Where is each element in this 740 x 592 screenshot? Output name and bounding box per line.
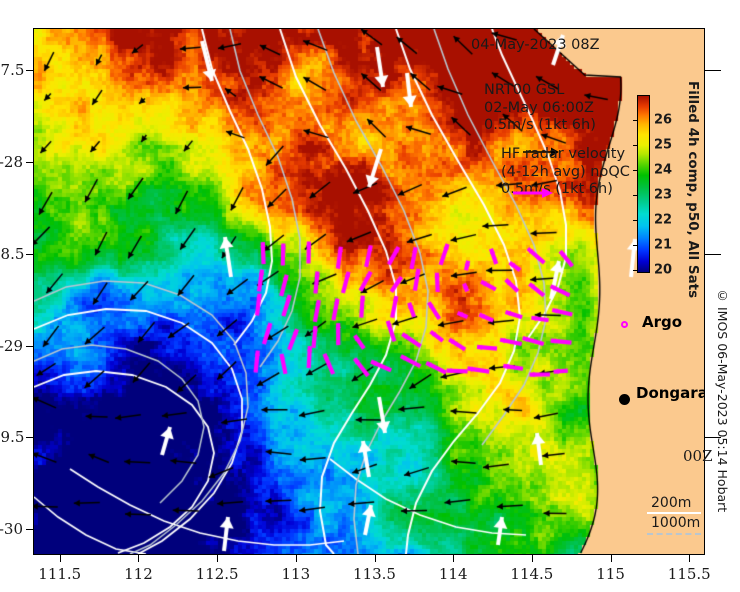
x-axis-tick-label: 113.5 <box>353 565 396 583</box>
colorbar-tick <box>633 195 637 196</box>
y-axis-tick-label: 28.5 <box>0 245 23 263</box>
y-axis-tick <box>26 529 33 530</box>
sst-map-figure: 04-May-2023 08Z NRT00 GSL 02-May 06:00Z … <box>0 0 740 592</box>
colorbar-tick-label: 23 <box>654 188 672 203</box>
colorbar-tick-label: 24 <box>654 163 672 178</box>
colorbar-tick <box>633 170 637 171</box>
colorbar-tick <box>633 220 637 221</box>
x-axis-tick-label: 112.5 <box>196 565 239 583</box>
argo-marker-icon <box>621 321 628 328</box>
right-edge-tick-label: 00Z <box>683 447 713 465</box>
depth-1000m-line <box>647 533 701 535</box>
x-axis-tick <box>217 555 218 562</box>
x-axis-tick-label: 115.5 <box>668 565 711 583</box>
right-axis-tick <box>705 70 721 71</box>
x-axis-tick <box>296 555 297 562</box>
colorbar-gradient <box>637 95 650 273</box>
y-axis-tick-label: -29 <box>0 337 23 355</box>
right-axis-tick <box>705 437 721 438</box>
colorbar-tick-label: 26 <box>654 113 672 128</box>
x-axis-tick-label: 111.5 <box>38 565 81 583</box>
x-axis-tick-label: 115 <box>596 565 625 583</box>
y-axis-tick <box>26 162 33 163</box>
velocity-vector-layer <box>34 29 704 554</box>
right-axis-tick <box>705 254 721 255</box>
map-plot-area[interactable]: 04-May-2023 08Z NRT00 GSL 02-May 06:00Z … <box>33 28 705 555</box>
y-axis-tick-label: 29.5 <box>0 428 23 446</box>
x-axis-tick <box>689 555 690 562</box>
colorbar-tick-label: 25 <box>654 138 672 153</box>
x-axis-tick <box>375 555 376 562</box>
colorbar-tick <box>633 270 637 271</box>
x-axis-tick-label: 114 <box>439 565 468 583</box>
x-axis-tick <box>532 555 533 562</box>
x-axis-tick <box>453 555 454 562</box>
depth-200m-line <box>647 512 701 514</box>
colorbar-tick-label: 21 <box>654 238 672 253</box>
colorbar-tick <box>633 145 637 146</box>
copyright-notice: © IMOS 06-May-2023 05:14 Hobart <box>715 288 730 512</box>
x-axis-tick-label: 113 <box>281 565 310 583</box>
y-axis-tick-label: -28 <box>0 153 23 171</box>
colorbar-title: Filled 4h comp, p50, All Sats <box>685 81 701 298</box>
x-axis-tick <box>611 555 612 562</box>
depth-1000m-label: 1000m <box>651 515 700 531</box>
colorbar-tick <box>633 245 637 246</box>
dongara-city-label: Dongara <box>636 384 705 402</box>
colorbar-tick <box>633 120 637 121</box>
y-axis-tick <box>26 437 33 438</box>
x-axis-tick <box>60 555 61 562</box>
x-axis-tick-label: 112 <box>124 565 153 583</box>
dongara-marker-icon <box>619 394 630 405</box>
colorbar-tick-label: 20 <box>654 263 672 278</box>
hfradar-reference-arrow <box>511 186 555 200</box>
y-axis-tick <box>26 254 33 255</box>
colorbar-tick-label: 22 <box>654 213 672 228</box>
x-axis-tick <box>138 555 139 562</box>
x-axis-tick-label: 114.5 <box>510 565 553 583</box>
depth-200m-label: 200m <box>651 495 691 511</box>
argo-legend-label: Argo <box>642 313 682 331</box>
colorbar: 26 25 24 23 22 21 20 Filled 4h comp, p50… <box>635 89 701 289</box>
y-axis-tick-label: 27.5 <box>0 61 23 79</box>
title-date-label: 04-May-2023 08Z <box>471 37 600 55</box>
y-axis-tick <box>26 70 33 71</box>
y-axis-tick <box>26 346 33 347</box>
satellite-legend-text: NRT00 GSL 02-May 06:00Z 0.5m/s (1kt 6h) <box>484 82 596 135</box>
y-axis-tick-label: -30 <box>0 520 23 538</box>
